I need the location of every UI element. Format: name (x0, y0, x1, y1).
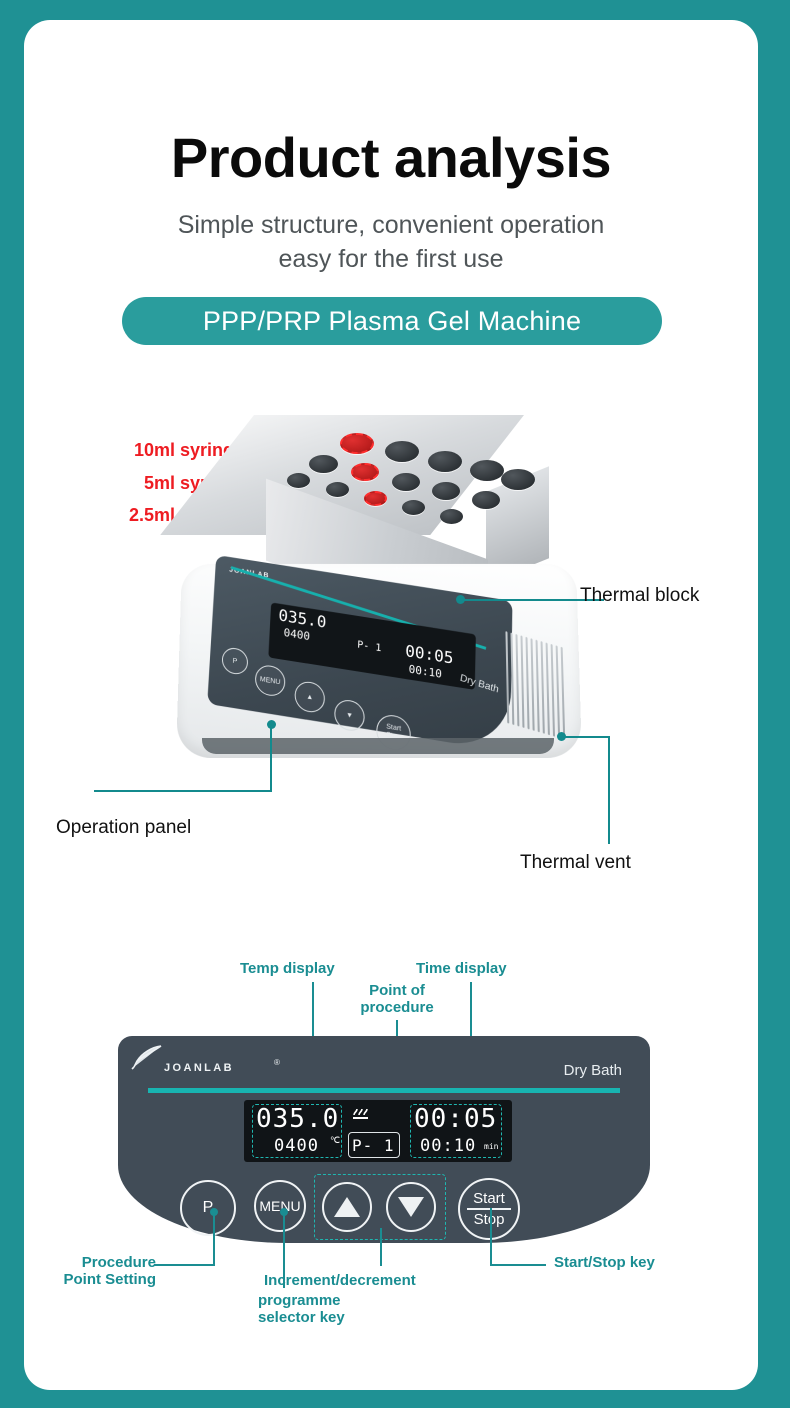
decrement-button[interactable] (386, 1182, 436, 1232)
programme-selector-line2: selector key (258, 1309, 345, 1326)
well-hole (287, 473, 310, 488)
well-hole (326, 482, 349, 497)
callout-temp-display: Temp display (240, 960, 335, 977)
lcd-screen: 035.0 0400 ℃ P- 1 00:05 00:10 min (244, 1100, 512, 1162)
well-2_5ml-highlight (364, 491, 387, 506)
point-of-procedure-line2: procedure (342, 999, 452, 1016)
triangle-up-icon (334, 1197, 360, 1217)
syringe-label-10ml: 10ml syringe (74, 440, 244, 461)
p-button[interactable]: P (180, 1180, 236, 1236)
infographic-page: Product analysis Simple structure, conve… (0, 0, 790, 1408)
increment-button[interactable] (322, 1182, 372, 1232)
device-lcd-temp-set: 0400 (283, 626, 310, 643)
start-label: Start (473, 1190, 505, 1207)
panel-diagram-section: Temp display Point of procedure Time dis… (24, 920, 758, 1370)
point-of-procedure-line1: Point of (342, 982, 452, 999)
lcd-temp-current: 035.0 (256, 1104, 339, 1134)
triangle-down-icon (398, 1197, 424, 1217)
device-lcd: 035.0 0400 P- 1 00:05 00:10 (268, 602, 476, 689)
procedure-point-setting-line2: Point Setting (58, 1271, 156, 1288)
content-card: Product analysis Simple structure, conve… (24, 20, 758, 1390)
device-body: JOANLAB 035.0 0400 P- 1 00:05 00:10 Dry … (176, 564, 582, 758)
lcd-temp-set: 0400 (274, 1136, 319, 1156)
callout-thermal-vent: Thermal vent (520, 852, 631, 874)
start-stop-divider (467, 1208, 511, 1210)
p-button-leader-h (154, 1264, 215, 1266)
callout-point-of-procedure: Point of procedure (342, 982, 452, 1016)
device-foot (202, 738, 554, 754)
callout-time-display: Time display (416, 960, 507, 977)
p-button-leader-v (213, 1212, 215, 1266)
well-hole (309, 455, 338, 473)
page-subtitle: Simple structure, convenient operation e… (24, 208, 758, 276)
device-menu-button[interactable]: MENU (254, 663, 286, 698)
lcd-time-set: 00:10 (420, 1136, 476, 1156)
device-operation-panel: JOANLAB 035.0 0400 P- 1 00:05 00:10 Dry … (207, 555, 512, 752)
callout-procedure-point-setting: Procedure Point Setting (58, 1254, 156, 1288)
control-panel: JOANLAB ® Dry Bath 035.0 0400 ℃ P- 1 (118, 1036, 650, 1243)
lcd-procedure-point: P- 1 (352, 1136, 395, 1155)
callout-operation-panel: Operation panel (56, 817, 191, 839)
callout-increment-decrement: Increment/decrement (264, 1272, 416, 1289)
panel-model-label: Dry Bath (564, 1062, 622, 1079)
well-hole (470, 460, 504, 481)
product-photo-section: 10ml syringe 5ml syringe 2.5ml syringe (24, 380, 758, 900)
panel-brand-label: JOANLAB (164, 1062, 234, 1074)
well-hole (440, 509, 463, 524)
well-hole (402, 500, 425, 515)
device-lcd-time-set: 00:10 (409, 663, 443, 681)
panel-accent-rule (148, 1088, 620, 1093)
operation-panel-callout-line-h (94, 790, 272, 792)
well-hole (428, 451, 462, 472)
callout-start-stop-key: Start/Stop key (554, 1254, 655, 1271)
well-hole (472, 491, 500, 509)
procedure-point-setting-line1: Procedure (58, 1254, 156, 1271)
thermal-vent-slits (505, 631, 572, 746)
device-lcd-procedure: P- 1 (357, 640, 381, 655)
device-decrement-button[interactable]: ▼ (334, 698, 365, 733)
panel-brand-registered-mark: ® (274, 1058, 280, 1067)
callout-thermal-block: Thermal block (580, 585, 699, 607)
menu-button[interactable]: MENU (254, 1180, 306, 1232)
increment-decrement-leader (380, 1228, 382, 1266)
subtitle-line-1: Simple structure, convenient operation (24, 208, 758, 242)
device-model-label: Dry Bath (459, 673, 499, 696)
operation-panel-callout-line-v (270, 724, 272, 792)
page-title: Product analysis (24, 125, 758, 190)
callout-programme-selector-key: programme selector key (258, 1292, 345, 1326)
thermal-vent-callout-line-v (608, 736, 610, 844)
start-stop-leader-v (490, 1208, 492, 1266)
programme-selector-line1: programme (258, 1292, 345, 1309)
thermal-vent-callout-line-h (564, 736, 610, 738)
well-hole (385, 441, 419, 462)
start-stop-leader-h (490, 1264, 546, 1266)
stop-label: Stop (474, 1211, 505, 1228)
lcd-temp-unit: ℃ (330, 1136, 340, 1146)
well-hole (392, 473, 420, 491)
well-hole (432, 482, 460, 500)
device-increment-button[interactable]: ▲ (294, 680, 325, 715)
well-hole (501, 469, 535, 490)
well-10ml-highlight (340, 433, 374, 454)
product-name-badge: PPP/PRP Plasma Gel Machine (122, 297, 662, 345)
heating-icon (351, 1106, 371, 1122)
subtitle-line-2: easy for the first use (24, 242, 758, 276)
lcd-time-unit: min (484, 1142, 498, 1151)
start-stop-button[interactable]: Start Stop (458, 1178, 520, 1240)
device-p-button[interactable]: P (221, 646, 248, 676)
well-5ml-highlight (351, 463, 379, 481)
feather-quill-icon (130, 1044, 164, 1070)
lcd-time-current: 00:05 (414, 1104, 497, 1134)
